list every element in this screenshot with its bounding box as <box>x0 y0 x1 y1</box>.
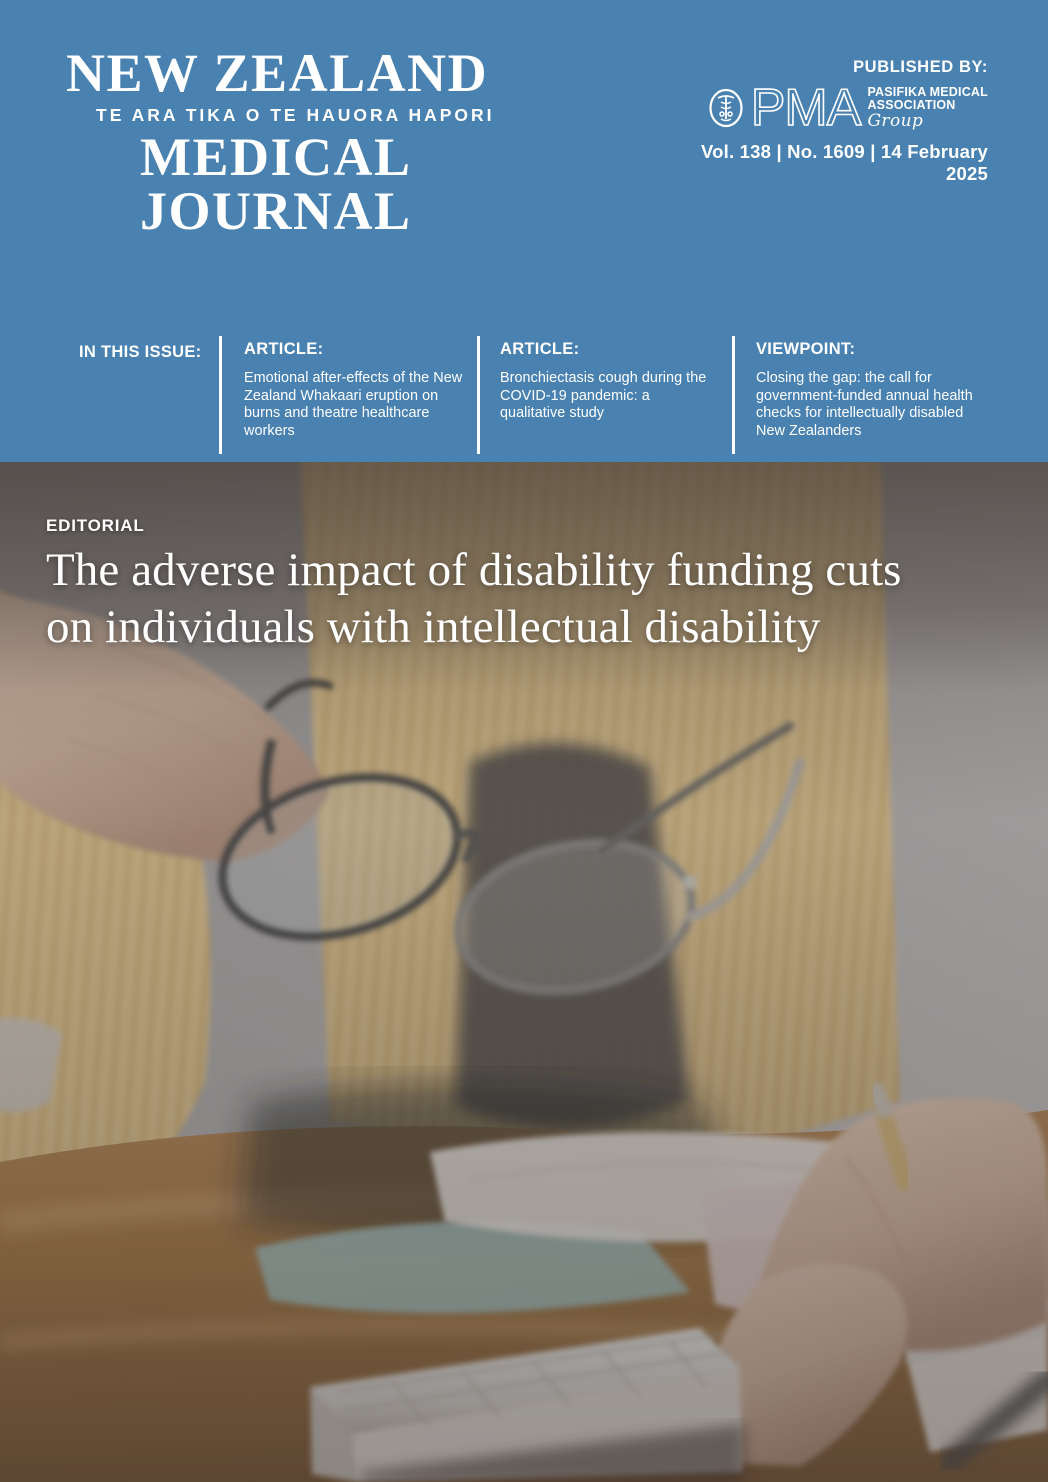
masthead: NEW ZEALAND TE ARA TIKA O TE HAUORA HAPO… <box>62 46 682 238</box>
pma-org-line-1: PASIFIKA MEDICAL <box>867 86 988 99</box>
published-by-label: PUBLISHED BY: <box>658 58 988 76</box>
column-divider <box>732 336 735 454</box>
column-divider <box>219 336 222 454</box>
pma-org-line-2: ASSOCIATION <box>867 99 988 112</box>
pma-org-suffix: Group <box>867 115 988 128</box>
journal-cover: NEW ZEALAND TE ARA TIKA O TE HAUORA HAPO… <box>0 0 1048 1482</box>
feature-headline-line-1: The adverse impact of disability funding… <box>46 542 1006 599</box>
masthead-subtitle-maori: TE ARA TIKA O TE HAUORA HAPORI <box>96 100 682 130</box>
issue-item-title: Emotional after-effects of the New Zeala… <box>244 370 466 440</box>
issue-item-1[interactable]: ARTICLE: Emotional after-effects of the … <box>244 340 466 440</box>
in-this-issue-strip: IN THIS ISSUE: ARTICLE: Emotional after-… <box>0 336 1048 454</box>
pma-wordmark: PMA <box>751 84 861 132</box>
feature-headline-line-2: on individuals with intellectual disabil… <box>46 599 1006 656</box>
pma-tiki-caduceus-emblem <box>708 88 744 128</box>
masthead-line-2: MEDICAL JOURNAL <box>140 130 682 238</box>
issue-item-2[interactable]: ARTICLE: Bronchiectasis cough during the… <box>500 340 716 423</box>
pma-logo: PMA PASIFIKA MEDICAL ASSOCIATION Group <box>658 84 988 132</box>
publisher-block: PUBLISHED BY: PMA PAS <box>658 58 988 185</box>
issue-item-kicker: ARTICLE: <box>244 340 466 359</box>
issue-item-kicker: VIEWPOINT: <box>756 340 978 359</box>
in-this-issue-label: IN THIS ISSUE: <box>79 343 201 362</box>
feature-kicker: EDITORIAL <box>46 516 145 536</box>
cover-header: NEW ZEALAND TE ARA TIKA O TE HAUORA HAPO… <box>0 0 1048 462</box>
issue-item-3[interactable]: VIEWPOINT: Closing the gap: the call for… <box>756 340 978 440</box>
feature-headline[interactable]: The adverse impact of disability funding… <box>46 542 1006 656</box>
issue-item-title: Closing the gap: the call for government… <box>756 370 978 440</box>
pma-organisation-name: PASIFIKA MEDICAL ASSOCIATION Group <box>867 86 988 131</box>
column-divider <box>477 336 480 454</box>
issue-item-title: Bronchiectasis cough during the COVID-19… <box>500 370 716 423</box>
masthead-line-1: NEW ZEALAND <box>66 46 682 100</box>
issue-item-kicker: ARTICLE: <box>500 340 716 359</box>
volume-issue-date: Vol. 138 | No. 1609 | 14 February 2025 <box>658 141 988 185</box>
